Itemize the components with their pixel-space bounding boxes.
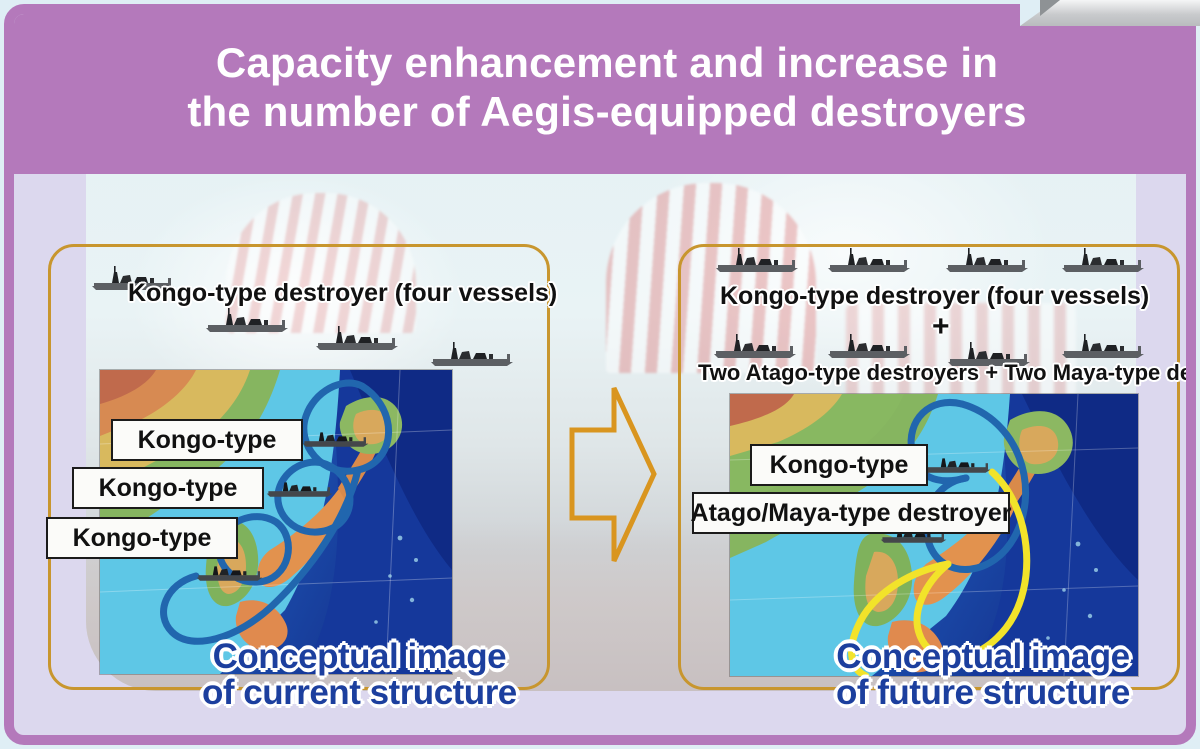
ship-icon: [1060, 246, 1152, 276]
callout-kongo-type-2: Kongo-type: [72, 467, 264, 509]
outer-frame: Capacity enhancement and increase in the…: [4, 4, 1196, 745]
ship-icon: [922, 452, 998, 476]
ship-icon: [1060, 332, 1152, 362]
right-concept-text: Conceptual image of future structure: [836, 639, 1130, 710]
left-fleet-caption: Kongo-type destroyer (four vessels): [128, 279, 557, 308]
left-concept-text: Conceptual image of current structure: [202, 639, 517, 710]
header-banner: Capacity enhancement and increase in the…: [4, 4, 1196, 174]
page-title-line2: the number of Aegis-equipped destroyers: [187, 88, 1026, 137]
callout-kongo-type-3: Kongo-type: [46, 517, 238, 559]
ship-icon: [300, 426, 376, 450]
infographic-root: Capacity enhancement and increase in the…: [0, 0, 1200, 749]
ship-icon: [429, 340, 521, 370]
ship-icon: [204, 306, 296, 336]
ship-icon: [194, 560, 270, 584]
plus-sign: +: [932, 310, 950, 344]
ship-icon: [944, 246, 1036, 276]
right-fleet-caption-row1: Kongo-type destroyer (four vessels): [720, 282, 1149, 311]
ship-icon: [714, 246, 806, 276]
callout-kongo-type-right: Kongo-type: [750, 444, 928, 486]
ship-icon: [264, 476, 340, 500]
right-concept-line2: of future structure: [836, 675, 1130, 711]
ship-icon: [712, 332, 804, 362]
ship-icon: [826, 246, 918, 276]
transition-arrow-icon: [566, 382, 658, 572]
left-concept-line2: of current structure: [202, 675, 517, 711]
right-fleet-caption-row2: Two Atago-type destroyers + Two Maya-typ…: [698, 360, 1196, 386]
ship-icon: [314, 324, 406, 354]
page-title-line1: Capacity enhancement and increase in: [216, 39, 998, 86]
callout-kongo-type-1: Kongo-type: [111, 419, 303, 461]
page-curl-shadow: [1040, 0, 1060, 16]
page-curl-decoration: [1020, 0, 1200, 26]
right-concept-line1: Conceptual image: [836, 639, 1130, 675]
ship-icon: [826, 332, 918, 362]
callout-atago-maya-type: Atago/Maya-type destroyer: [692, 492, 1010, 534]
page-title: Capacity enhancement and increase in the…: [187, 39, 1026, 136]
left-concept-line1: Conceptual image: [202, 639, 517, 675]
